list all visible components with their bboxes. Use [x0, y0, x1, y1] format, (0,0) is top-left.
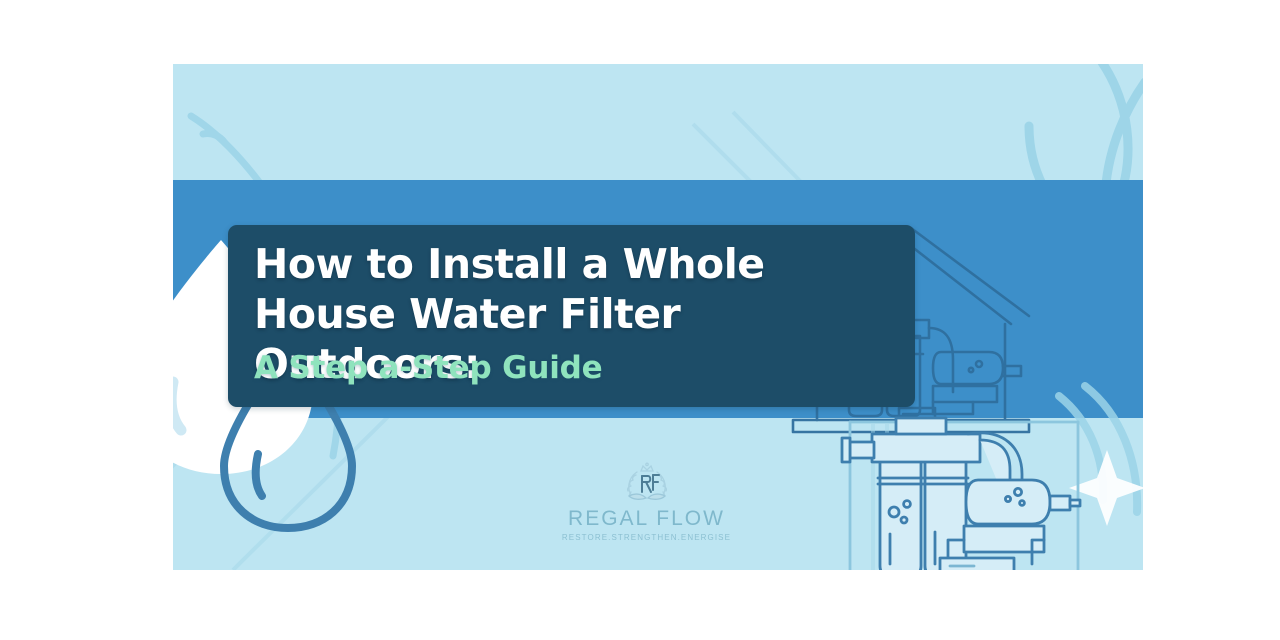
- blog-hero-banner: How to Install a Whole House Water Filte…: [173, 64, 1143, 570]
- screenshot-canvas: How to Install a Whole House Water Filte…: [0, 0, 1280, 640]
- logo-name: REGAL FLOW: [554, 507, 739, 531]
- page-subtitle: A Step a-Step Guide: [254, 350, 602, 386]
- sparkle-icon: [1069, 450, 1143, 526]
- water-filter-unit-illustration: [828, 404, 1143, 570]
- regal-flow-crest-icon: [615, 462, 679, 506]
- logo-tagline: RESTORE.STRENGTHEN.ENERGISE: [554, 533, 739, 542]
- brand-logo: REGAL FLOW RESTORE.STRENGTHEN.ENERGISE: [554, 462, 739, 542]
